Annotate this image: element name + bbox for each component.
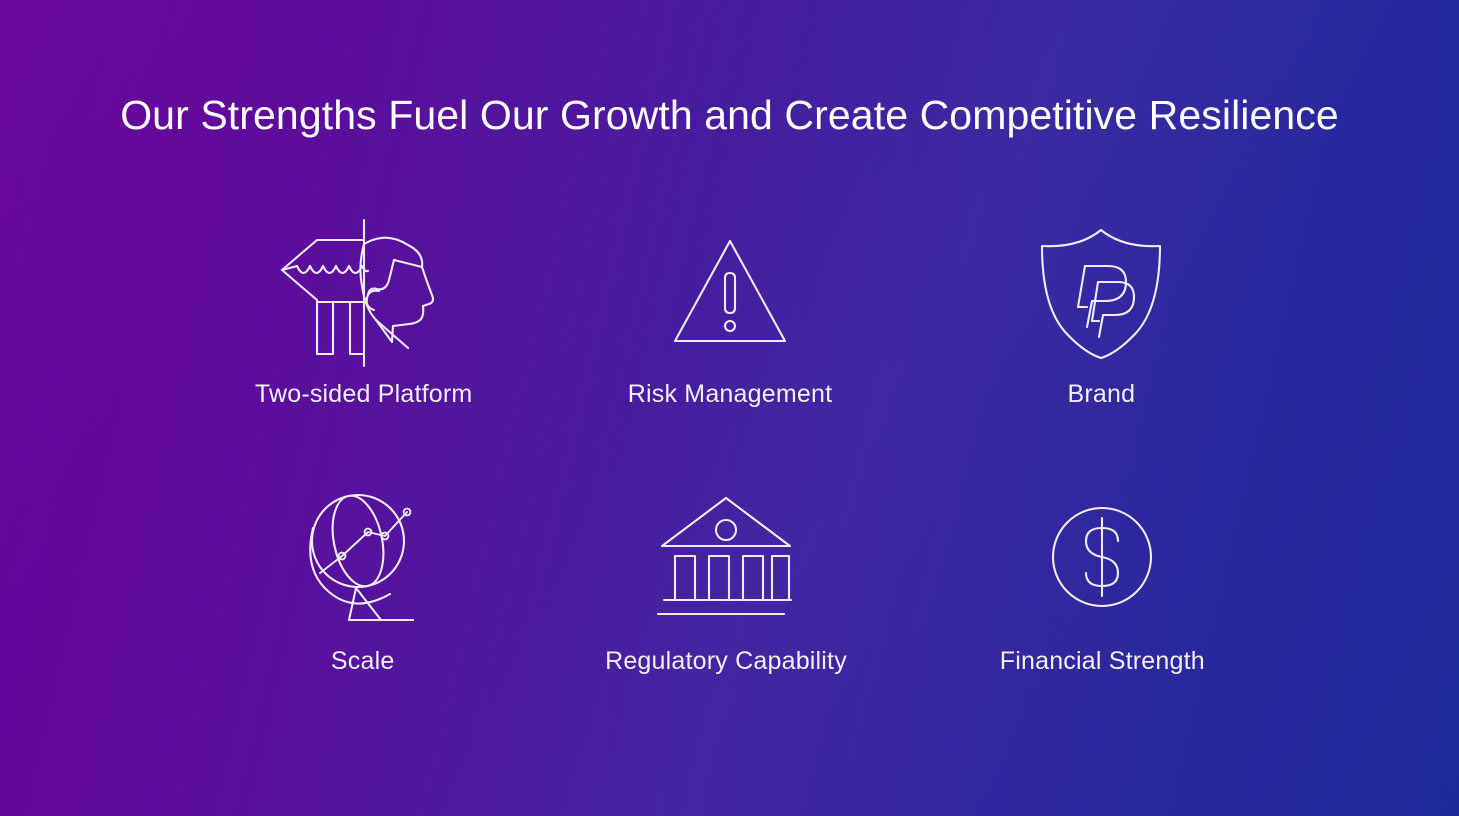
strength-item-risk-management[interactable]: Risk Management xyxy=(548,205,911,475)
strength-label: Brand xyxy=(1067,380,1135,409)
strength-item-brand[interactable]: Brand xyxy=(920,205,1283,475)
storefront-and-head-profile-icon xyxy=(276,218,452,368)
slide-canvas: Our Strengths Fuel Our Growth and Create… xyxy=(0,0,1459,816)
scale-icon-wrap xyxy=(301,467,425,647)
strength-label: Financial Strength xyxy=(1000,647,1205,676)
strength-item-two-sided-platform[interactable]: Two-sided Platform xyxy=(182,205,545,475)
risk-management-icon-wrap xyxy=(671,205,789,380)
strengths-grid: Two-sided Platform Risk Management xyxy=(185,205,1275,745)
dollar-coin-icon xyxy=(1049,504,1155,610)
page-title: Our Strengths Fuel Our Growth and Create… xyxy=(0,92,1459,139)
strength-item-regulatory-capability[interactable]: Regulatory Capability xyxy=(544,467,907,737)
paypal-shield-icon xyxy=(1038,226,1164,360)
regulatory-capability-icon-wrap xyxy=(658,467,794,647)
strength-label: Risk Management xyxy=(628,380,832,409)
globe-with-trend-line-icon xyxy=(301,484,425,630)
strength-item-financial-strength[interactable]: Financial Strength xyxy=(921,467,1284,737)
strength-label: Two-sided Platform xyxy=(255,380,473,409)
strength-label: Regulatory Capability xyxy=(605,647,847,676)
warning-triangle-icon xyxy=(671,237,789,349)
brand-icon-wrap xyxy=(1038,205,1164,380)
financial-strength-icon-wrap xyxy=(1049,467,1155,647)
strength-label: Scale xyxy=(331,647,395,676)
strength-item-scale[interactable]: Scale xyxy=(181,467,544,737)
two-sided-platform-icon-wrap xyxy=(276,205,452,380)
bank-building-icon xyxy=(658,494,794,620)
